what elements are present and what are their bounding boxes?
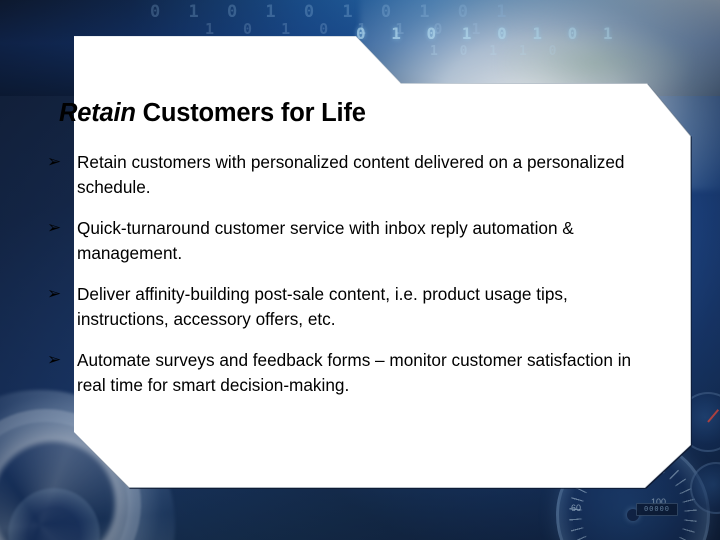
list-item-text: Quick-turnaround customer service with i… <box>77 216 657 266</box>
binary-digits-strip-1: 0 1 0 1 0 1 0 1 0 1 <box>150 2 515 22</box>
arrow-bullet-icon: ➢ <box>44 348 77 372</box>
list-item: ➢ Automate surveys and feedback forms – … <box>44 348 669 398</box>
list-item: ➢ Retain customers with personalized con… <box>44 150 669 200</box>
list-item-text: Automate surveys and feedback forms – mo… <box>77 348 657 398</box>
list-item-text: Deliver affinity-building post-sale cont… <box>77 282 657 332</box>
list-item: ➢ Quick-turnaround customer service with… <box>44 216 669 266</box>
slide-content: Retain Customers for Life ➢ Retain custo… <box>30 37 690 487</box>
presentation-slide: 0 1 0 1 0 1 0 1 0 1 1 0 1 0 1 1 0 1 0 1 … <box>0 0 720 540</box>
gauge-needle-icon <box>707 409 719 423</box>
gauge-label-60: 60 <box>571 503 581 513</box>
page-title-rest: Customers for Life <box>136 99 366 127</box>
arrow-bullet-icon: ➢ <box>44 150 77 174</box>
page-title: Retain Customers for Life <box>59 99 366 128</box>
page-title-emphasis: Retain <box>59 99 136 127</box>
arrow-bullet-icon: ➢ <box>44 282 77 306</box>
list-item: ➢ Deliver affinity-building post-sale co… <box>44 282 669 332</box>
bullet-list: ➢ Retain customers with personalized con… <box>44 150 669 414</box>
gauge-odometer-display: 00000 <box>636 503 678 516</box>
arrow-bullet-icon: ➢ <box>44 216 77 240</box>
list-item-text: Retain customers with personalized conte… <box>77 150 657 200</box>
